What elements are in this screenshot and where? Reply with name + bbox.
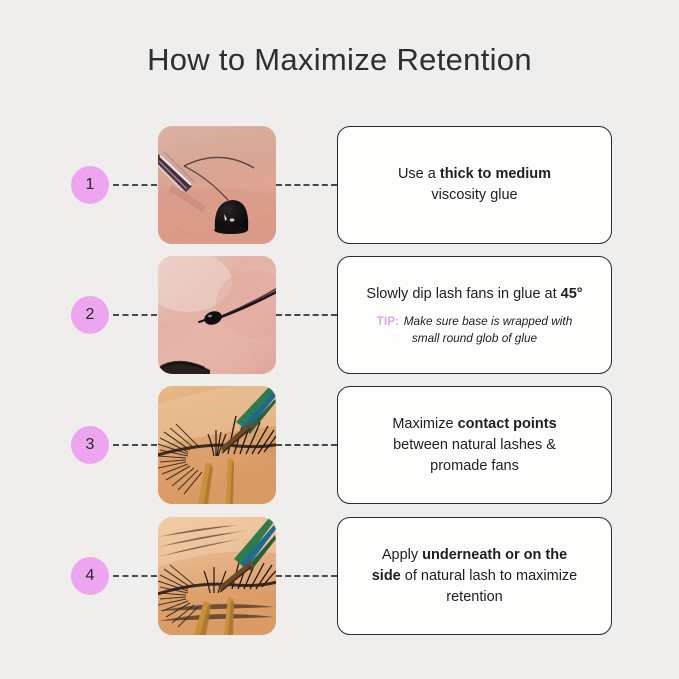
step-4-text-line-3: retention [446, 587, 502, 608]
step-row-3: 3 [0, 386, 679, 504]
step-number-2: 2 [86, 306, 95, 324]
step-4-line-1-pre: Apply [382, 547, 422, 563]
step-2-tip: TIP: Make sure base is wrapped with smal… [377, 312, 573, 346]
tip-text-line-2: small round glob of glue [377, 330, 573, 346]
step-3-text-line-3: promade fans [430, 456, 519, 477]
step-1-line-1-bold: thick to medium [440, 166, 551, 182]
connector-photo-to-card-1 [276, 184, 337, 186]
lash-fan-dipped-in-glue-closeup-icon [158, 256, 276, 374]
step-card-3: Maximize contact points between natural … [337, 386, 612, 504]
step-3-line-1-pre: Maximize [392, 416, 457, 432]
lash-contact-points-application-icon [158, 386, 276, 504]
step-card-1: Use a thick to medium viscosity glue [337, 126, 612, 244]
step-3-text-line-1: Maximize contact points [392, 414, 556, 435]
step-4-text-line-2: side of natural lash to maximize [372, 566, 578, 587]
step-2-text-line-1: Slowly dip lash fans in glue at 45° [366, 284, 582, 305]
step-1-line-1-pre: Use a [398, 166, 440, 182]
step-2-line-1-pre: Slowly dip lash fans in glue at [366, 286, 560, 302]
step-3-text-line-2: between natural lashes & [393, 435, 556, 456]
step-badge-2: 2 [71, 296, 109, 334]
step-4-text-line-1: Apply underneath or on the [382, 545, 567, 566]
tweezer-holding-lash-over-glue-drop-icon [158, 126, 276, 244]
step-number-3: 3 [86, 436, 95, 454]
step-number-1: 1 [86, 176, 95, 194]
connector-photo-to-card-3 [276, 444, 337, 446]
step-4-line-2-post: of natural lash to maximize [401, 568, 578, 584]
step-photo-2 [158, 256, 276, 374]
infographic-page: How to Maximize Retention 1 [0, 0, 679, 679]
tip-text-line-1: Make sure base is wrapped with [404, 314, 573, 328]
step-badge-4: 4 [71, 557, 109, 595]
tip-label: TIP: [377, 316, 400, 328]
step-badge-1: 1 [71, 166, 109, 204]
step-number-4: 4 [86, 567, 95, 585]
step-2-line-1-bold: 45° [561, 286, 583, 302]
step-4-line-2-bold: side [372, 568, 401, 584]
page-title: How to Maximize Retention [0, 42, 679, 78]
step-badge-3: 3 [71, 426, 109, 464]
step-row-1: 1 [0, 126, 679, 244]
step-4-line-1-bold: underneath or on the [422, 547, 567, 563]
step-3-line-1-bold: contact points [458, 416, 557, 432]
step-1-text-line-1: Use a thick to medium [398, 164, 551, 185]
connector-badge-to-photo-2 [113, 314, 157, 316]
connector-photo-to-card-4 [276, 575, 337, 577]
step-photo-3 [158, 386, 276, 504]
connector-photo-to-card-2 [276, 314, 337, 316]
connector-badge-to-photo-1 [113, 184, 157, 186]
step-row-4: 4 [0, 517, 679, 635]
step-card-2: Slowly dip lash fans in glue at 45° TIP:… [337, 256, 612, 374]
step-photo-1 [158, 126, 276, 244]
step-photo-4 [158, 517, 276, 635]
step-card-4: Apply underneath or on the side of natur… [337, 517, 612, 635]
connector-badge-to-photo-3 [113, 444, 157, 446]
step-row-2: 2 [0, 256, 679, 374]
connector-badge-to-photo-4 [113, 575, 157, 577]
lash-underneath-side-application-icon [158, 517, 276, 635]
step-1-text-line-2: viscosity glue [431, 185, 517, 206]
